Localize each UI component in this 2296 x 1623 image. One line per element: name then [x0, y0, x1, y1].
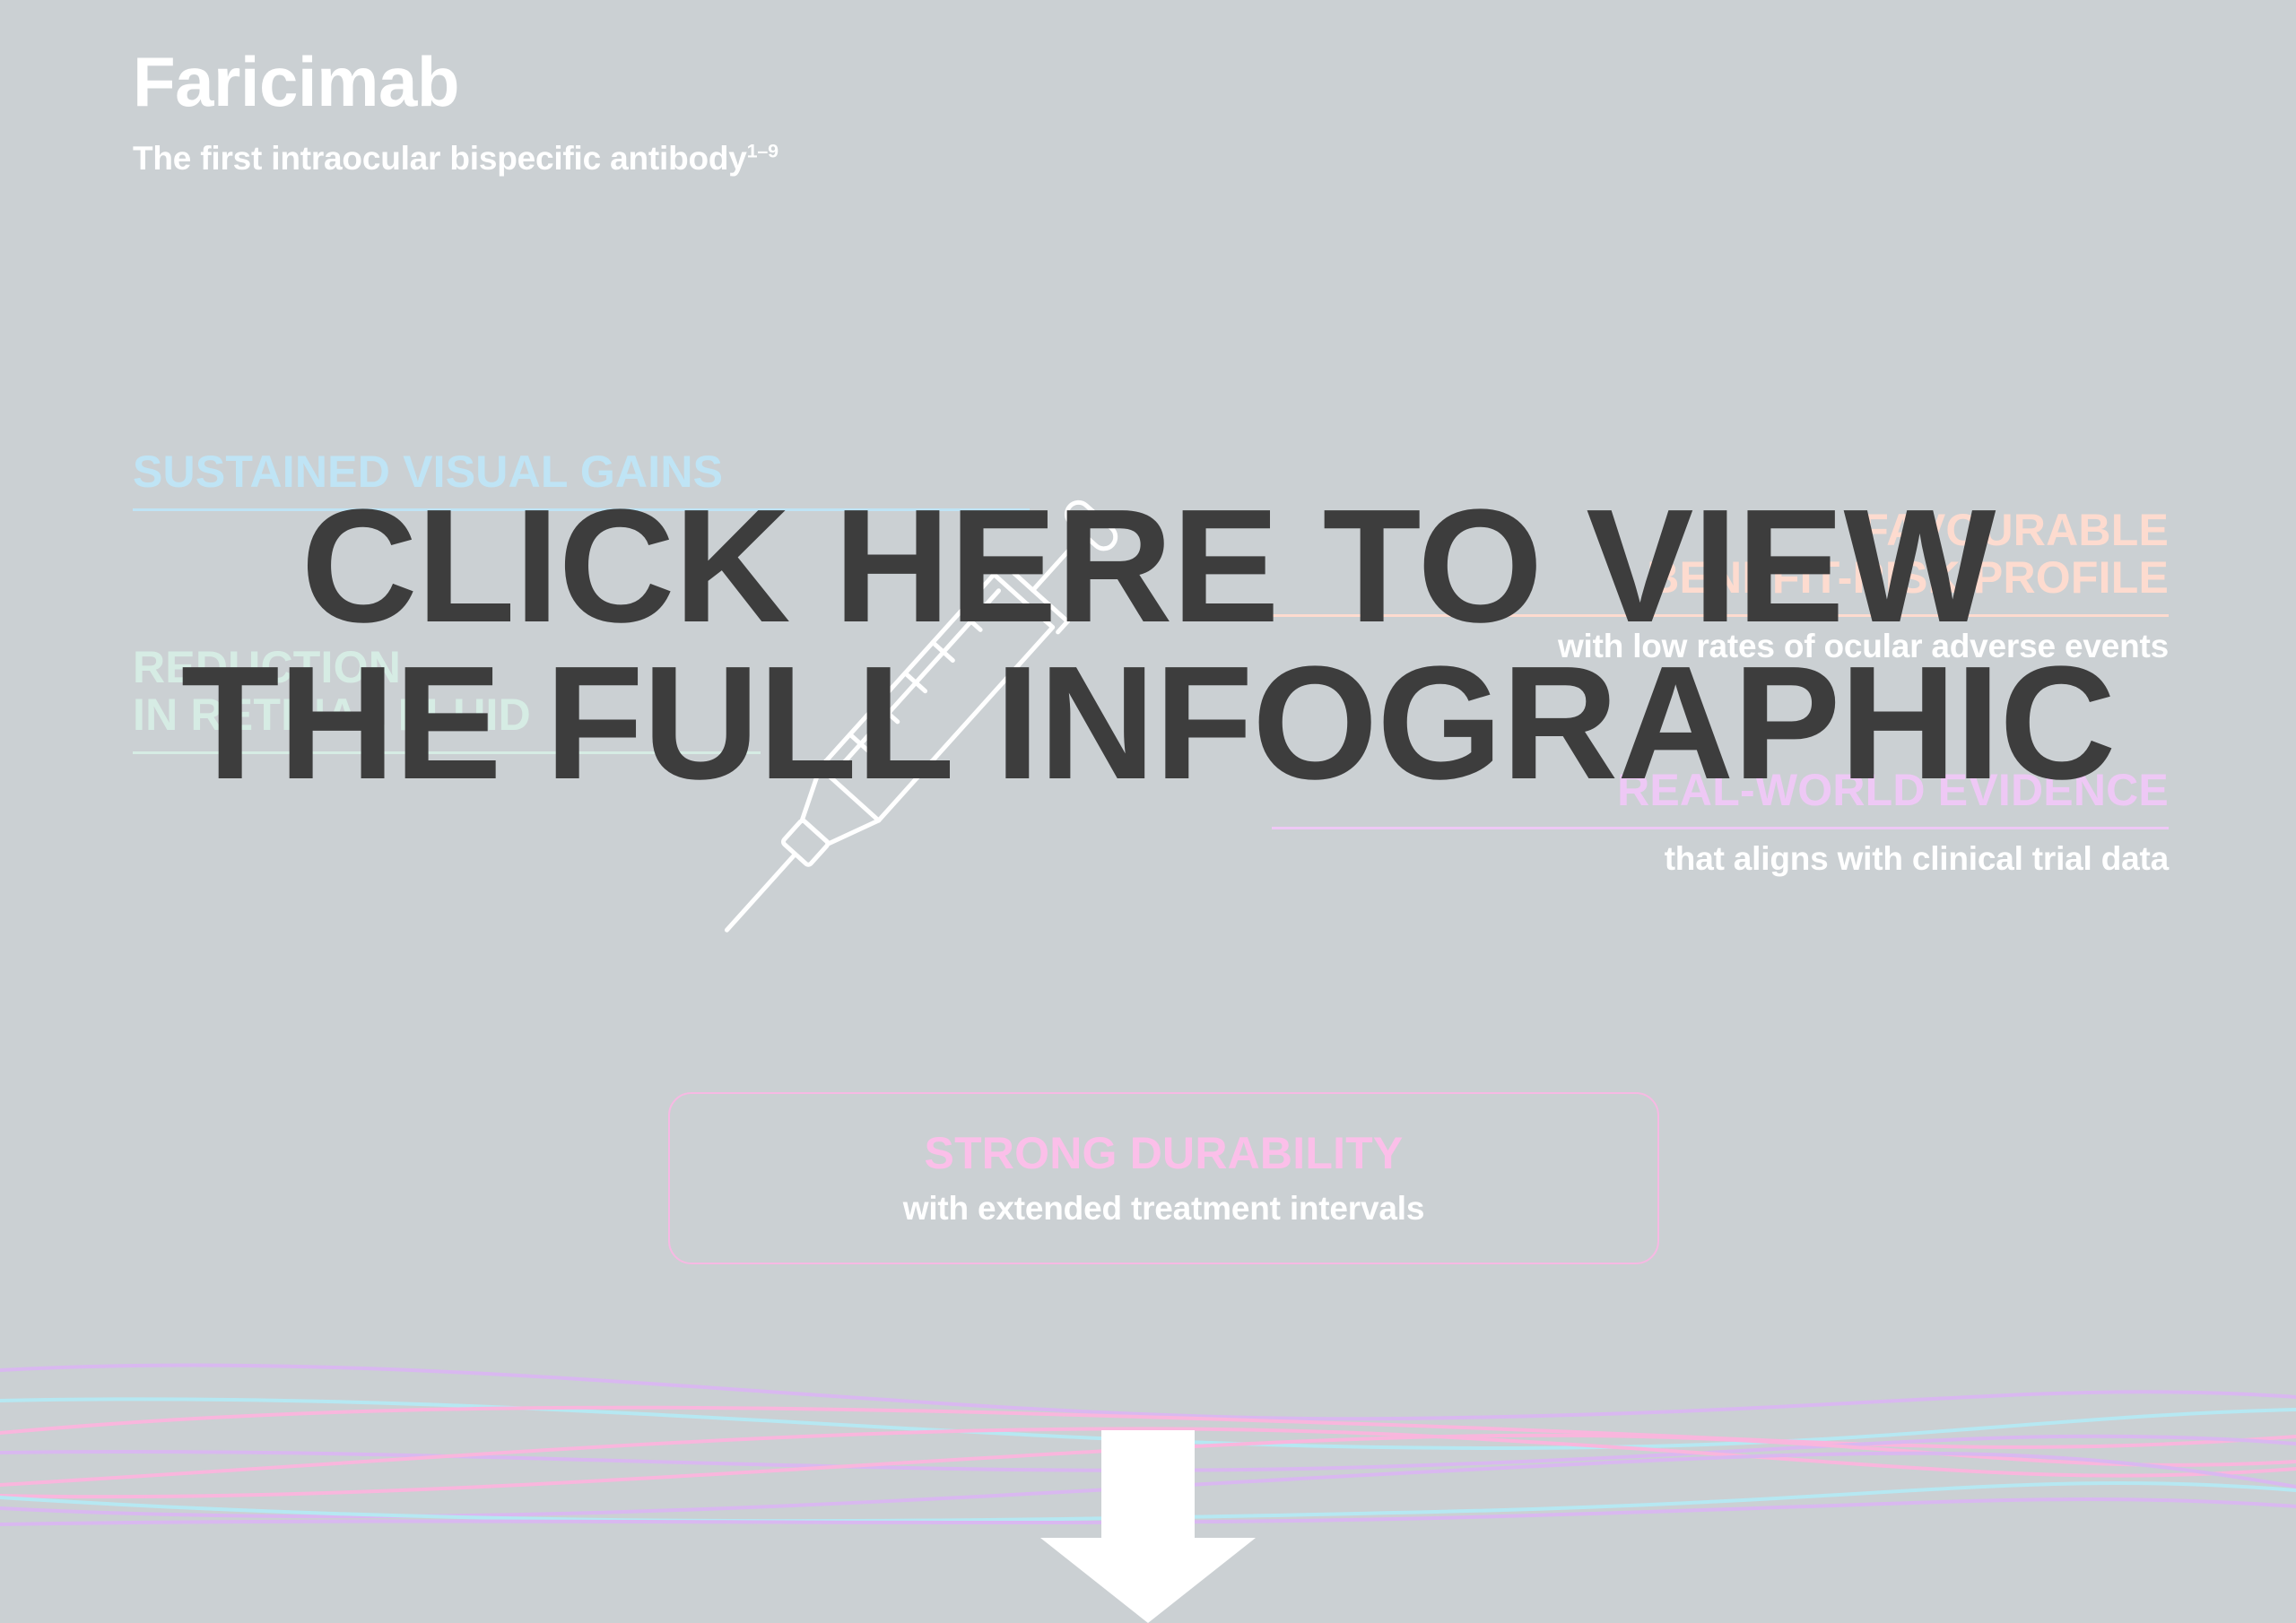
- click-to-view-overlay[interactable]: CLICK HERE TO VIEW THE FULL INFOGRAPHIC: [0, 0, 2296, 1623]
- click-to-view-label[interactable]: CLICK HERE TO VIEW THE FULL INFOGRAPHIC: [161, 489, 2135, 802]
- infographic-teaser-canvas[interactable]: Faricimab The first intraocular bispecif…: [0, 0, 2296, 1623]
